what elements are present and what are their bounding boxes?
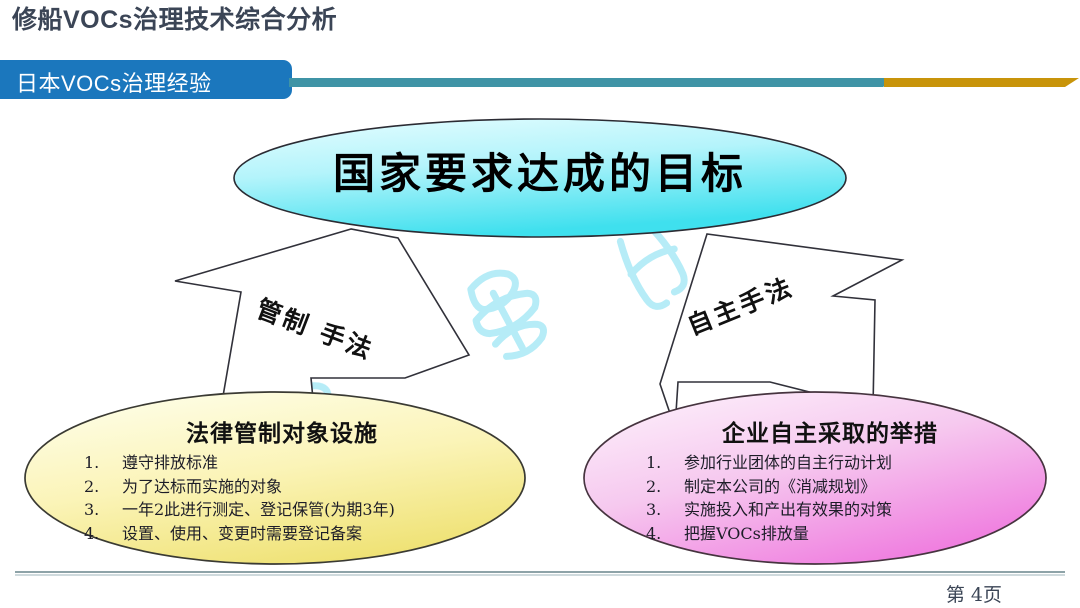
header-rule-gold [884,78,1065,87]
goal-ellipse [234,119,846,237]
page-title: 修船VOCs治理技术综合分析 [12,6,337,35]
footer-rule-upper [15,571,1065,573]
header-rule-teal [289,78,883,87]
section-tab[interactable]: 日本VOCs治理经验 [0,60,292,99]
footer-rule-lower [15,574,1065,576]
voluntary-measures-ellipse [584,392,1046,564]
section-tab-label: 日本VOCs治理经验 [16,66,212,98]
legal-measures-ellipse [25,392,525,564]
page-number: 第 4页 [946,580,1002,607]
